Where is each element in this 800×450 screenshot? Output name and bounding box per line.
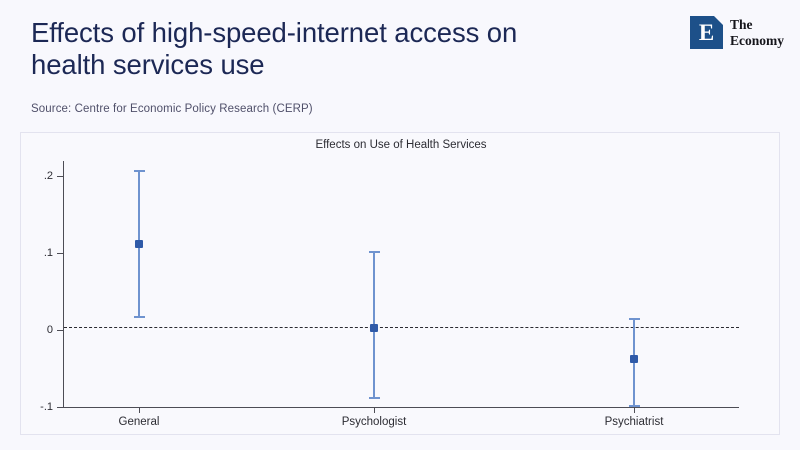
x-axis-line	[63, 407, 739, 408]
y-axis-tick	[57, 176, 63, 177]
y-axis-tick	[57, 330, 63, 331]
x-axis-tick-label: General	[59, 416, 219, 428]
data-point-marker	[135, 240, 143, 248]
confidence-interval-cap-upper	[134, 170, 145, 172]
slide-header: Effects of high-speed-internet access on…	[0, 0, 800, 128]
confidence-interval-cap-lower	[134, 316, 145, 318]
confidence-interval-cap-upper	[369, 251, 380, 253]
x-axis-tick-label: Psychologist	[294, 416, 454, 428]
y-axis-tick-label: 0	[13, 324, 53, 336]
x-axis-tick	[374, 407, 375, 413]
plot-area: .2.10-.1 GeneralPsychologistPsychiatrist	[21, 133, 781, 436]
logo-wordmark-line1: The	[730, 17, 784, 33]
source-caption: Source: Centre for Economic Policy Resea…	[31, 103, 313, 115]
data-point-marker	[370, 324, 378, 332]
y-axis-tick-label: -.1	[13, 401, 53, 413]
page-title: Effects of high-speed-internet access on…	[31, 17, 591, 81]
x-axis-tick	[634, 407, 635, 413]
confidence-interval-cap-upper	[629, 318, 640, 320]
confidence-interval-cap-lower	[369, 397, 380, 399]
brand-logo: E The Economy	[690, 16, 794, 50]
x-axis-tick-label: Psychiatrist	[554, 416, 714, 428]
y-axis-tick	[57, 253, 63, 254]
y-axis-line	[63, 161, 64, 408]
y-axis-tick	[57, 407, 63, 408]
logo-mark-square: E	[690, 16, 723, 49]
logo-wordmark: The Economy	[730, 17, 784, 48]
zero-reference-line	[64, 327, 739, 328]
chart-panel: Effects on Use of Health Services .2.10-…	[20, 132, 780, 435]
confidence-interval-cap-lower	[629, 405, 640, 407]
logo-corner-fold-icon	[714, 16, 723, 25]
y-axis-tick-label: .2	[13, 170, 53, 182]
x-axis-tick	[139, 407, 140, 413]
logo-wordmark-line2: Economy	[730, 33, 784, 49]
y-axis-tick-label: .1	[13, 247, 53, 259]
data-point-marker	[630, 355, 638, 363]
